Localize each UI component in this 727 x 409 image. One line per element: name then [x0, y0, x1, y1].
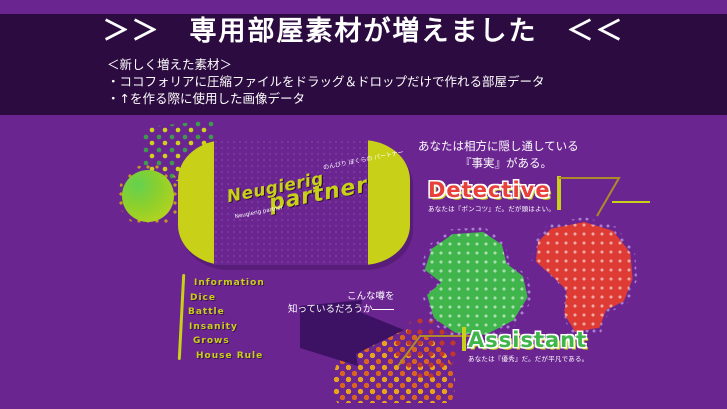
poster-canvas: Neugierig partner のんびり ぼくらの パートナー Neugie…: [0, 0, 727, 409]
menu-item-information[interactable]: Information: [194, 276, 265, 291]
bottom-strip: [0, 403, 727, 409]
narration-text: あなたは相方に隠し通している 『事実』がある。: [418, 138, 579, 172]
menu-item-battle[interactable]: Battle: [188, 305, 265, 320]
menu-item-house-rule[interactable]: House Rule: [196, 349, 265, 364]
header-subtitle-block: ＜新しく増えた素材＞ ・ココフォリアに圧縮ファイルをドラッグ＆ドロップだけで作れ…: [107, 56, 545, 107]
rumor-underline: [372, 309, 394, 310]
logo-small-caption: Neugierig partner: [235, 205, 284, 221]
header-bullet-2: ・↑を作る際に使用した画像データ: [107, 90, 545, 107]
role-label-assistant: Assistant あなたは『優秀』だ。だが平凡である。: [468, 328, 588, 363]
page-title: ＞＞ 専用部屋素材が増えました ＜＜: [0, 14, 727, 50]
header-subtitle-heading: ＜新しく増えた素材＞: [107, 56, 545, 73]
menu-rail-divider: [178, 274, 185, 360]
role-name-assistant: Assistant: [468, 328, 588, 352]
menu-item-grows[interactable]: Grows: [193, 334, 265, 349]
narration-line-2: 『事実』がある。: [418, 155, 579, 172]
menu-list: Information Dice Battle Insanity Grows H…: [188, 276, 265, 363]
rumor-line-1: こんな噂を: [288, 290, 394, 303]
menu-item-insanity[interactable]: Insanity: [189, 320, 265, 335]
role-tagline-detective: あなたは『ポンコツ』だ。だが頭はよい。: [428, 203, 555, 213]
rumor-line-2: 知っているだろうか: [288, 304, 372, 315]
assistant-accent-bar: [462, 327, 466, 351]
role-tagline-assistant: あなたは『優秀』だ。だが平凡である。: [468, 353, 588, 363]
menu-item-dice[interactable]: Dice: [190, 291, 265, 306]
detective-connector-line-icon: [557, 176, 627, 224]
header-bullet-1: ・ココフォリアに圧縮ファイルをドラッグ＆ドロップだけで作れる部屋データ: [107, 73, 545, 90]
rumor-text: こんな噂を 知っているだろうか: [288, 290, 394, 316]
gradient-circle-icon: [122, 170, 174, 222]
role-name-detective: Detective: [428, 178, 555, 202]
role-label-detective: Detective あなたは『ポンコツ』だ。だが頭はよい。: [428, 178, 555, 213]
narration-line-1: あなたは相方に隠し通している: [418, 138, 579, 155]
